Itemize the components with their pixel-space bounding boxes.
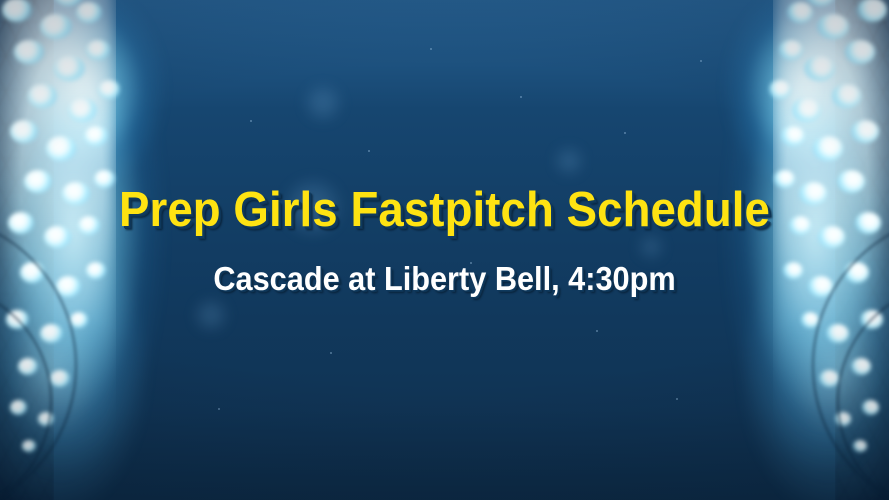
page-title: Prep Girls Fastpitch Schedule xyxy=(31,186,858,235)
title-block: Prep Girls Fastpitch Schedule Cascade at… xyxy=(0,186,889,295)
matchup-subtitle: Cascade at Liberty Bell, 4:30pm xyxy=(31,262,858,295)
broadcast-graphic: Prep Girls Fastpitch Schedule Cascade at… xyxy=(0,0,889,500)
